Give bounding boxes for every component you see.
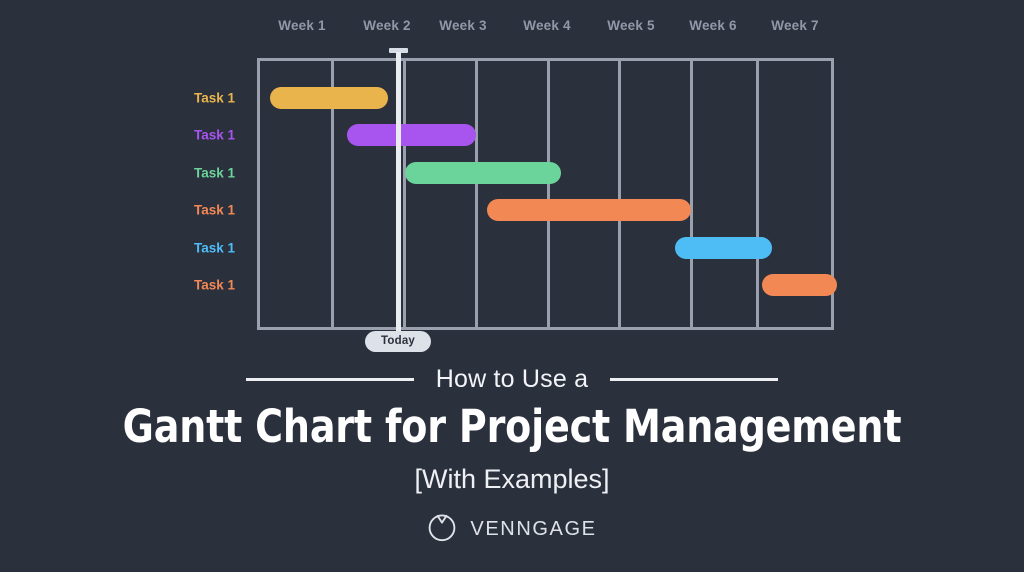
task-label-row-4: Task 1 (194, 203, 235, 218)
gantt-bar-task-1[interactable] (270, 87, 388, 109)
gantt-bar-task-6[interactable] (762, 274, 837, 296)
gantt-bars (257, 58, 834, 330)
task-label-row-6: Task 1 (194, 278, 235, 293)
kicker-text: How to Use a (436, 365, 588, 394)
week-label-1: Week 1 (278, 18, 325, 33)
week-label-2: Week 2 (363, 18, 410, 33)
gantt-bar-task-3[interactable] (405, 162, 561, 184)
task-label-row-3: Task 1 (194, 166, 235, 181)
venngage-clock-icon (427, 512, 457, 547)
task-label-row-5: Task 1 (194, 241, 235, 256)
week-label-3: Week 3 (439, 18, 486, 33)
week-label-6: Week 6 (689, 18, 736, 33)
today-marker-label[interactable]: Today (365, 331, 431, 352)
task-label-row-1: Task 1 (194, 91, 235, 106)
kicker-rule-left (246, 378, 414, 381)
week-label-7: Week 7 (771, 18, 818, 33)
today-marker-line (396, 52, 401, 333)
page-subtitle: [With Examples] (0, 464, 1024, 495)
week-label-5: Week 5 (607, 18, 654, 33)
gantt-bar-task-5[interactable] (675, 237, 772, 259)
kicker-row: How to Use a (0, 362, 1024, 396)
week-axis: Week 1 Week 2 Week 3 Week 4 Week 5 Week … (0, 18, 1024, 44)
kicker-rule-right (610, 378, 778, 381)
gantt-chart: Week 1 Week 2 Week 3 Week 4 Week 5 Week … (0, 0, 1024, 355)
task-label-row-2: Task 1 (194, 128, 235, 143)
page-title: Gantt Chart for Project Management (31, 400, 994, 453)
week-label-4: Week 4 (523, 18, 570, 33)
gantt-bar-task-4[interactable] (487, 199, 691, 221)
poster-canvas: Week 1 Week 2 Week 3 Week 4 Week 5 Week … (0, 0, 1024, 572)
brand-lockup: VENNGAGE (0, 512, 1024, 546)
gantt-bar-task-2[interactable] (347, 124, 476, 146)
brand-name: VENNGAGE (470, 518, 596, 541)
task-label-column: Task 1 Task 1 Task 1 Task 1 Task 1 Task … (0, 58, 235, 330)
